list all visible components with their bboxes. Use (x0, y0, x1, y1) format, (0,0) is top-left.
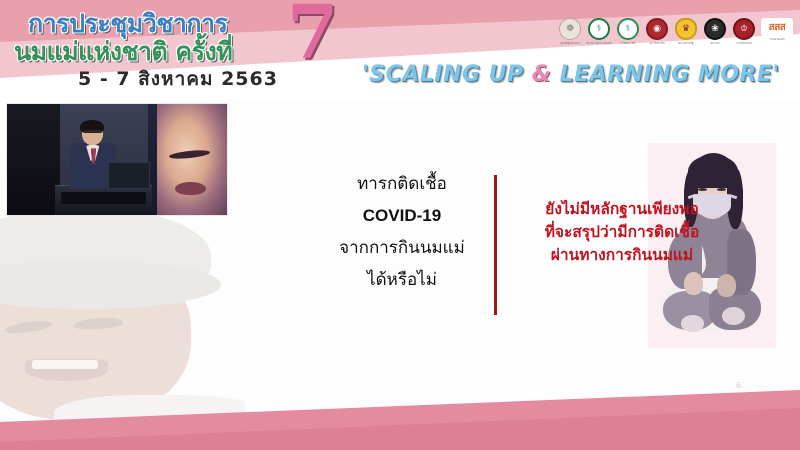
speaker-backdrop-left (7, 104, 60, 215)
presentation-slide: การประชุมวิชาการ นมแม่แห่งชาติ ครั้งที่ … (0, 0, 800, 450)
question-line-2: COVID-19 (318, 200, 486, 232)
question-text-block: ทารกติดเชื้อ COVID-19 จากการกินนมแม่ ได้… (318, 168, 486, 296)
conference-tagline: 'SCALING UP & LEARNING MORE' (362, 62, 780, 87)
logo-royal-seal-icon: ❁ มูลนิธิศูนย์นมแม่ (557, 18, 583, 50)
tagline-ampersand: & (532, 62, 552, 87)
logo-ministry-public-health-icon: ⚕ กระทรวงสาธารณสุข (586, 18, 612, 50)
answer-line-2: ที่จะสรุปว่ามีการติดเชื้อ (504, 221, 740, 244)
speaker-glasses-icon (83, 130, 102, 134)
sponsor-logo-row: ❁ มูลนิธิศูนย์นมแม่ ⚕ กระทรวงสาธารณสุข ⚕… (557, 18, 794, 50)
logo-crimson-emblem-icon: ♔ ราชวิทยาลัย (731, 18, 757, 50)
slide-number: 6 (736, 381, 741, 390)
logo-university-red-icon: ◉ มหาวิทยาลัย (644, 18, 670, 50)
conference-date: 5 - 7 สิงหาคม 2563 (78, 64, 278, 94)
mother-hand-right (717, 274, 736, 297)
child-hat-brim (0, 260, 221, 309)
conference-edition-number: 7 (287, 0, 339, 70)
logo-thaihealth-icon: สสส ThaiHealth (760, 18, 794, 50)
podium-shape (55, 185, 152, 215)
mother-hand-left (684, 272, 703, 295)
question-line-3: จากการกินนมแม่ (318, 232, 486, 264)
mother-eye-left (698, 188, 707, 190)
mother-hair-top (688, 155, 738, 188)
speaker-video-photo (6, 103, 228, 216)
mother-foot-left (681, 315, 704, 331)
vertical-divider (494, 175, 497, 315)
question-line-1: ทารกติดเชื้อ (318, 168, 486, 200)
question-line-4: ได้หรือไม่ (318, 264, 486, 296)
tagline-part2: LEARNING MORE' (551, 62, 779, 87)
laptop-shape (108, 162, 150, 190)
logo-black-emblem-icon: ❀ สมาคม (702, 18, 728, 50)
tagline-part1: 'SCALING UP (362, 62, 532, 87)
logo-department-health-icon: ⚕ กรมอนามัย (615, 18, 641, 50)
baby-overlay-image (157, 104, 227, 215)
answer-line-1: ยังไม่มีหลักฐานเพียงพอ (504, 198, 740, 221)
child-watermark-photo (0, 215, 245, 420)
answer-text-block: ยังไม่มีหลักฐานเพียงพอ ที่จะสรุปว่ามีการ… (504, 198, 740, 267)
mother-eye-right (717, 188, 726, 190)
logo-garuda-gold-icon: ♛ หน่วยงานรัฐ (673, 18, 699, 50)
child-teeth (32, 360, 98, 369)
answer-line-3: ผ่านทางการกินนมแม่ (504, 244, 740, 267)
